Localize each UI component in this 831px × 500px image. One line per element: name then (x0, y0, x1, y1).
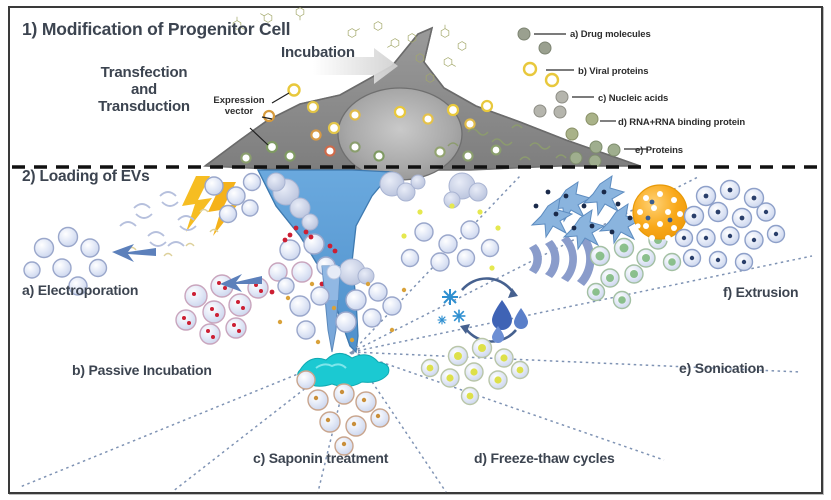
snowflake-icon (438, 289, 466, 324)
cycle-arrow-icon (460, 278, 518, 341)
panel1-title: 1) Modification of Progenitor Cell (22, 20, 290, 40)
method-label-sonication: e) Sonication (679, 361, 764, 377)
freeze-thaw-scene (401, 203, 528, 404)
legend-label-drug-molecules: a) Drug molecules (570, 29, 651, 40)
method-label-electroporation: a) Electroporation (22, 283, 138, 299)
method-label-passive-incubation: b) Passive Incubation (72, 363, 212, 379)
sonication-wave-icon (529, 232, 594, 286)
freeze-thaw-pre-vesicles (402, 221, 499, 271)
panel2-title: 2) Loading of EVs (22, 168, 150, 185)
legend-label-nucleic-acids: c) Nucleic acids (598, 93, 668, 104)
method-label-saponin: c) Saponin treatment (253, 451, 388, 467)
legend-label-proteins: e) Proteins (635, 145, 683, 156)
arrow-icon-electroporation (112, 244, 156, 262)
legend-label-viral-proteins: b) Viral proteins (578, 66, 648, 77)
incubation-label: Incubation (281, 45, 355, 62)
legend-label-rna-binding: d) RNA+RNA binding protein (618, 117, 745, 128)
expression-vector-label: Expression vector (208, 96, 270, 117)
sonication-scene (529, 231, 681, 309)
transfection-label: Transfection and Transduction (92, 65, 196, 115)
figure-root: 1) Modification of Progenitor Cell Incub… (0, 0, 831, 500)
sonication-vesicles (588, 231, 681, 309)
method-label-freeze-thaw: d) Freeze-thaw cycles (474, 451, 615, 467)
method-label-extrusion: f) Extrusion (723, 285, 798, 301)
released-cargo (128, 210, 218, 257)
broken-vesicle-fragments (120, 192, 196, 246)
